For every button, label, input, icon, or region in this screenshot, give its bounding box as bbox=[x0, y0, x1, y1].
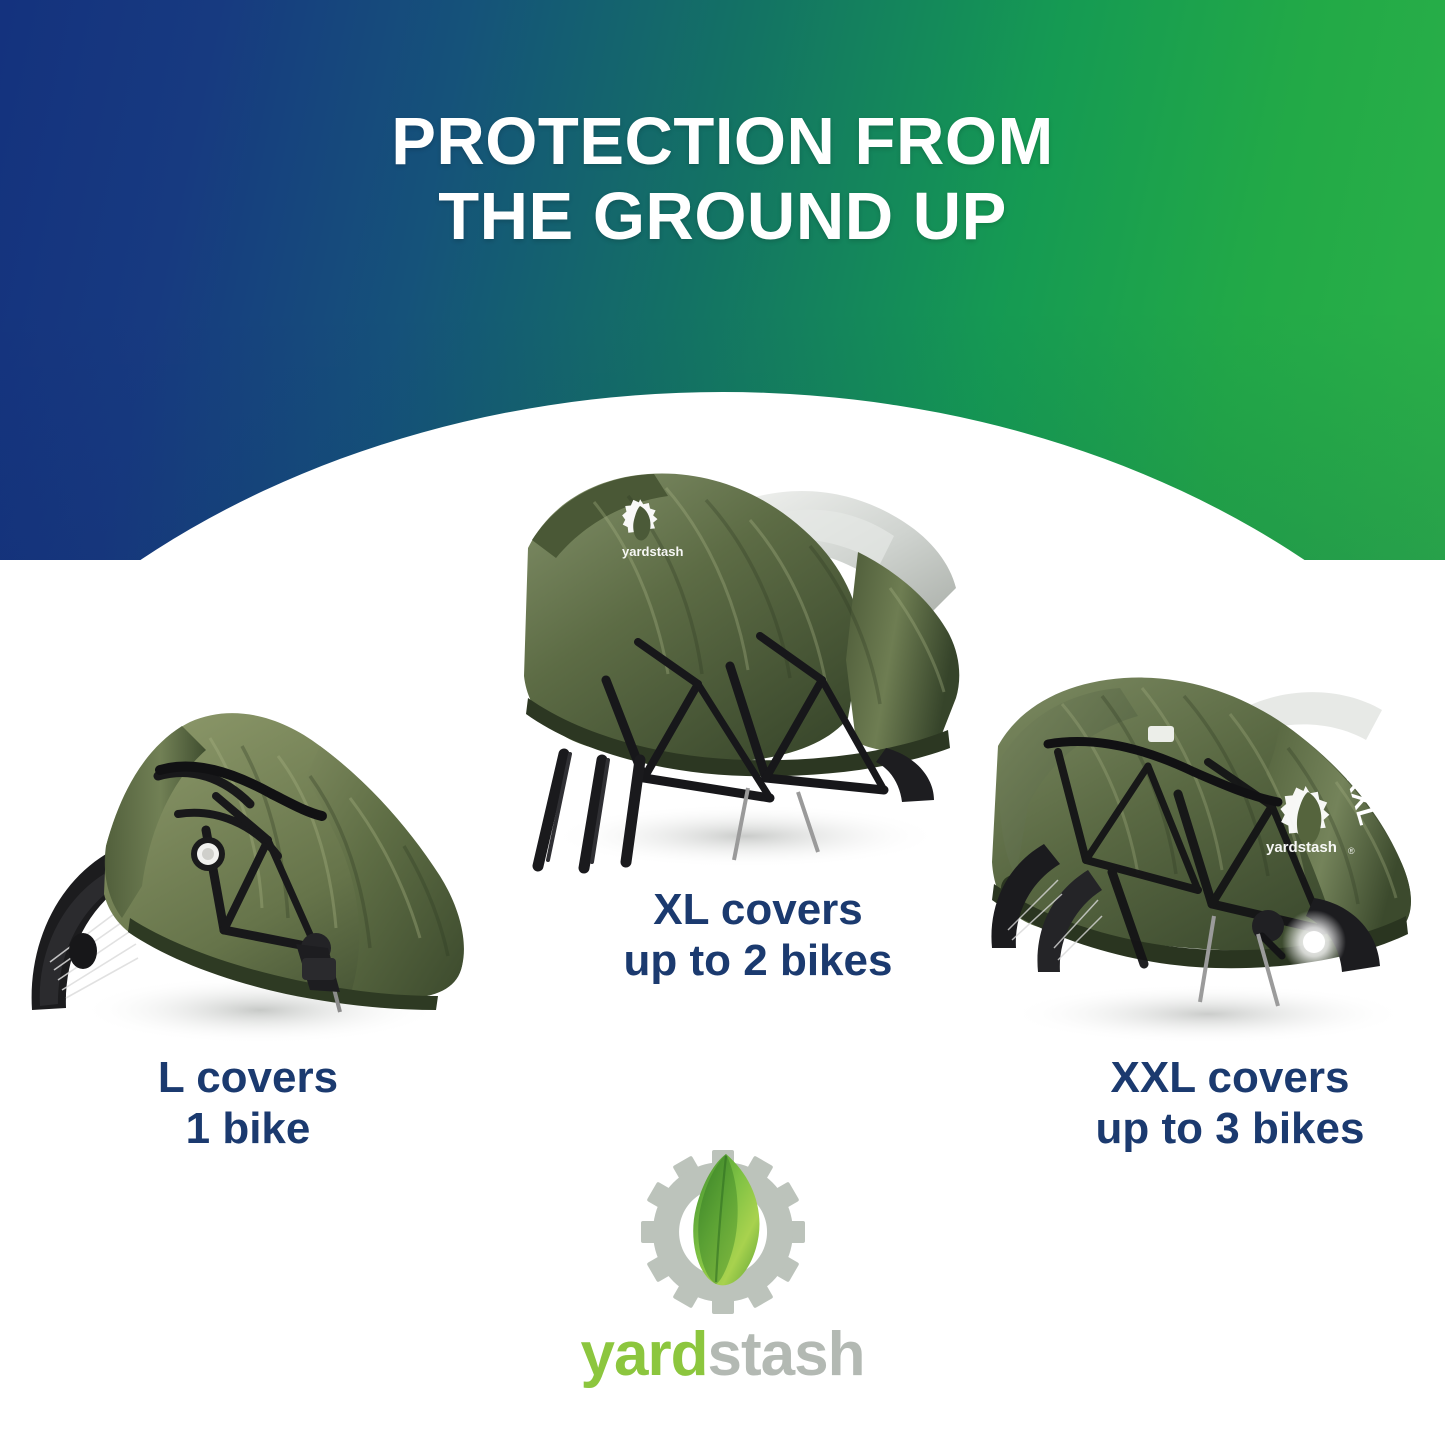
page-title-line-2: THE GROUND UP bbox=[0, 179, 1445, 254]
page-title-line-1: PROTECTION FROM bbox=[0, 104, 1445, 179]
brand-word-stash: stash bbox=[708, 1320, 865, 1389]
caption-xl-line-2: up to 2 bikes bbox=[548, 935, 968, 986]
svg-text:®: ® bbox=[1348, 846, 1355, 856]
svg-text:yardstash: yardstash bbox=[622, 544, 683, 559]
page-title: PROTECTION FROM THE GROUND UP bbox=[0, 104, 1445, 254]
bike-cover-photo-l bbox=[10, 618, 480, 1068]
caption-l-line-2: 1 bike bbox=[38, 1103, 458, 1154]
caption-xxl-line-1: XXL covers bbox=[1030, 1052, 1430, 1103]
brand-wordmark: yardstash bbox=[0, 1324, 1445, 1386]
product-caption-xxl: XXL covers up to 3 bikes bbox=[1030, 1052, 1430, 1154]
marketing-image-canvas: PROTECTION FROM THE GROUND UP bbox=[0, 0, 1445, 1445]
bike-cover-photo-xl: yardstash bbox=[498, 448, 968, 878]
product-caption-l: L covers 1 bike bbox=[38, 1052, 458, 1154]
svg-text:yardstash: yardstash bbox=[1266, 839, 1337, 856]
product-image-xl: yardstash bbox=[498, 448, 968, 878]
brand-word-yard: yard bbox=[581, 1320, 708, 1389]
brand-logo: yardstash bbox=[0, 1148, 1445, 1386]
product-caption-xl: XL covers up to 2 bikes bbox=[548, 884, 968, 986]
product-image-xxl: XXL yardstash ® bbox=[962, 648, 1438, 1054]
caption-l-line-1: L covers bbox=[38, 1052, 458, 1103]
gear-leaf-icon bbox=[630, 1148, 816, 1316]
caption-xxl-line-2: up to 3 bikes bbox=[1030, 1103, 1430, 1154]
caption-xl-line-1: XL covers bbox=[548, 884, 968, 935]
bike-cover-photo-xxl: XXL yardstash ® bbox=[962, 648, 1438, 1054]
product-image-l bbox=[10, 618, 480, 1068]
